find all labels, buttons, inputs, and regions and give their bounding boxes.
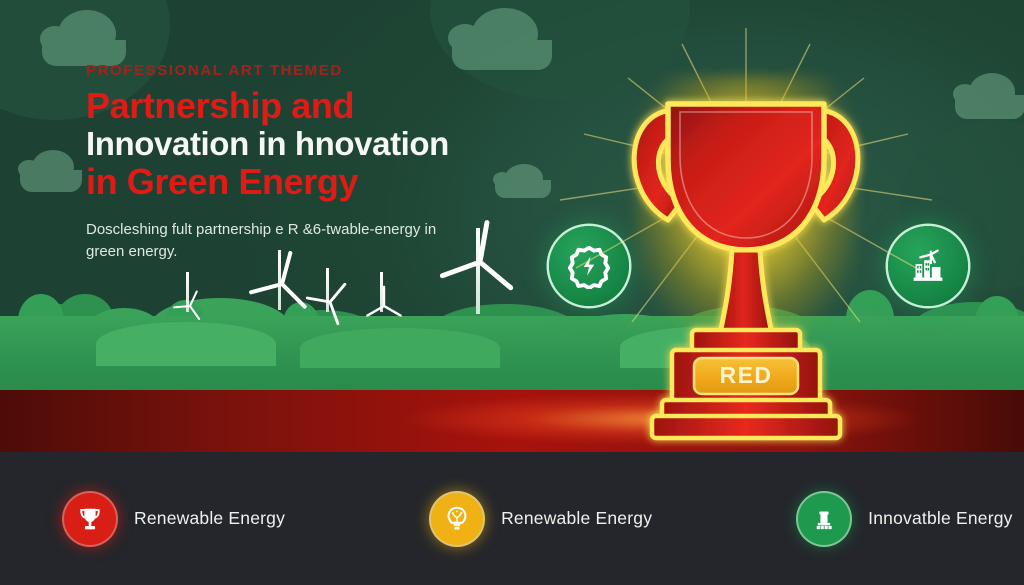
trophy-cup xyxy=(668,104,824,250)
title-line-3: in Green Energy xyxy=(86,163,516,201)
title-line-2: Innovation in hnovation xyxy=(86,127,516,162)
bush xyxy=(96,322,276,366)
footer-item-label: Renewable Energy xyxy=(134,508,285,529)
footer-item-label: Innovatble Energy xyxy=(868,508,1012,529)
lightbulb-icon xyxy=(442,504,472,534)
kicker-text: PROFESSIONAL ART THEMED xyxy=(86,62,516,79)
power-plant-icon xyxy=(809,504,839,534)
wind-turbine-icon xyxy=(380,272,383,312)
footer-item-renewable-energy-trophy[interactable]: Renewable Energy xyxy=(64,493,285,545)
title-line-1: Partnership and xyxy=(86,87,516,125)
trophy-badge xyxy=(64,493,116,545)
cloud-icon xyxy=(955,95,1024,119)
poster-canvas: RED PROFESSIONAL ART THEMED Partnership … xyxy=(0,0,1024,585)
trophy-stem xyxy=(720,250,772,334)
footer-bar: Renewable Energy xyxy=(0,452,1024,585)
trophy-svg: RED xyxy=(596,52,896,452)
power-plant-badge xyxy=(798,493,850,545)
wind-turbine-icon xyxy=(326,268,329,312)
wind-turbine-icon xyxy=(186,272,189,312)
footer-item-innovatble-energy[interactable]: Innovatble Energy xyxy=(798,493,1012,545)
lightbulb-badge xyxy=(431,493,483,545)
cloud-icon xyxy=(20,170,82,192)
footer-item-label: Renewable Energy xyxy=(501,508,652,529)
trophy-base-tier-bottom xyxy=(652,416,840,438)
trophy-illustration: RED xyxy=(596,52,896,452)
footer-item-renewable-energy-bulb[interactable]: Renewable Energy xyxy=(431,493,652,545)
bush xyxy=(300,328,500,368)
headline-block: PROFESSIONAL ART THEMED Partnership and … xyxy=(86,62,516,262)
trophy-plaque-label: RED xyxy=(719,362,772,388)
footer-items: Renewable Energy xyxy=(0,452,1024,585)
subtitle-text: Doscleshing fult partnership e R &6-twab… xyxy=(86,219,466,262)
trophy-icon xyxy=(75,504,105,534)
